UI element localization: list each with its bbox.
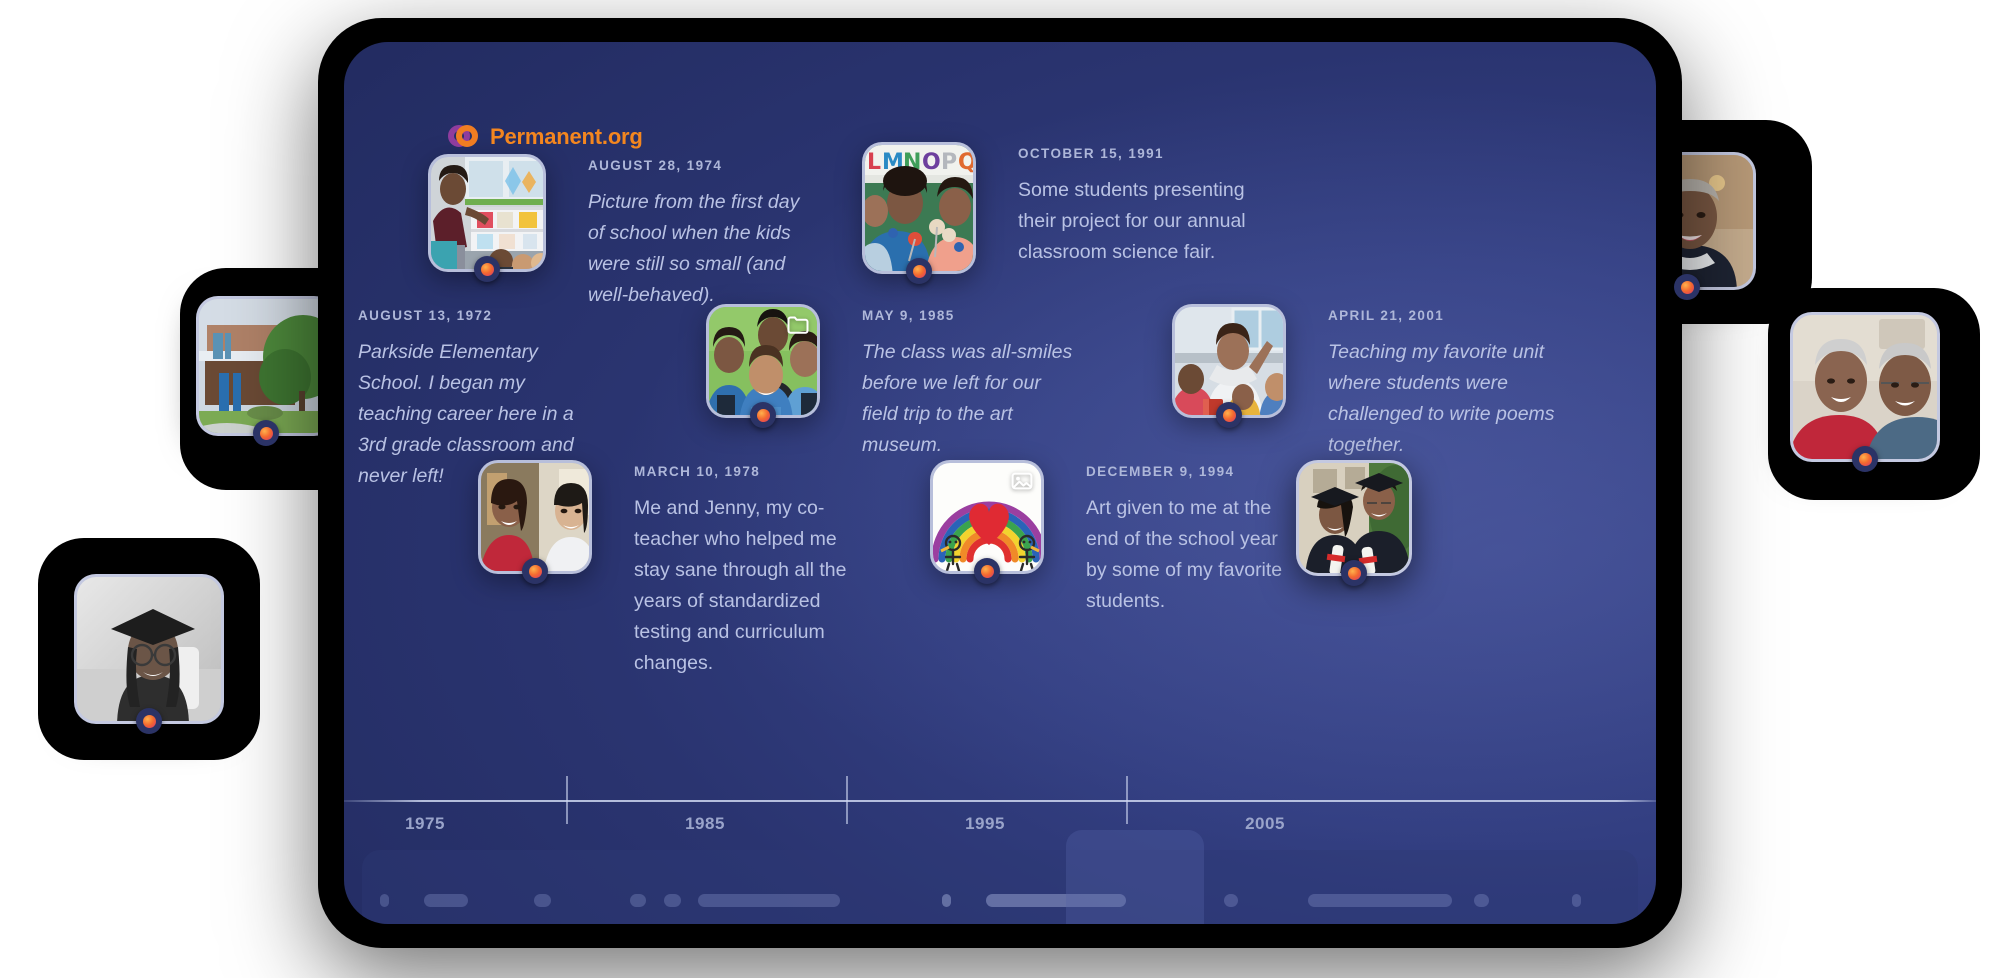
pin-badge[interactable] bbox=[136, 708, 162, 734]
entry-date: DECEMBER 9, 1994 bbox=[1086, 464, 1302, 479]
pin-badge[interactable] bbox=[1852, 446, 1878, 472]
permanent-rings-logo-icon bbox=[448, 122, 478, 152]
timeline-entry-6[interactable]: DECEMBER 9, 1994 Art given to me at the … bbox=[930, 460, 1302, 617]
entry-description: Some students presenting their project f… bbox=[1018, 175, 1258, 268]
axis-tick bbox=[1126, 776, 1128, 824]
timeline-entry-4[interactable]: APRIL 21, 2001 Teaching my favorite unit… bbox=[1172, 304, 1584, 461]
strip-pill bbox=[1308, 894, 1452, 907]
entry-description: Picture from the first day of school whe… bbox=[588, 187, 818, 311]
brand-name: Permanent.org bbox=[490, 124, 643, 150]
entry-thumbnail[interactable]: L M N O P Q bbox=[862, 142, 976, 274]
entry-date: AUGUST 28, 1974 bbox=[588, 158, 818, 173]
entry-date: APRIL 21, 2001 bbox=[1328, 308, 1584, 323]
strip-pill bbox=[664, 894, 681, 907]
pin-dot-icon bbox=[981, 565, 994, 578]
pin-dot-icon bbox=[1223, 409, 1236, 422]
photo-elderly-couple-portrait bbox=[1793, 315, 1937, 459]
timeline-axis[interactable] bbox=[344, 800, 1656, 802]
folder-icon bbox=[787, 315, 809, 335]
photo-two-teachers-portrait bbox=[481, 463, 589, 571]
entry-thumbnail[interactable] bbox=[930, 460, 1044, 574]
svg-text:O: O bbox=[922, 150, 941, 175]
pin-badge[interactable] bbox=[1674, 274, 1700, 300]
entry-date: MAY 9, 1985 bbox=[862, 308, 1074, 323]
strip-pill bbox=[534, 894, 551, 907]
entry-date: OCTOBER 15, 1991 bbox=[1018, 146, 1258, 161]
tablet-device: Permanent.org bbox=[318, 18, 1682, 948]
svg-text:P: P bbox=[941, 150, 957, 175]
entry-thumbnail[interactable] bbox=[428, 154, 546, 272]
entry-date: MARCH 10, 1978 bbox=[634, 464, 864, 479]
pin-badge[interactable] bbox=[253, 420, 279, 446]
svg-text:L: L bbox=[867, 150, 881, 175]
timeline-entry-1[interactable]: L M N O P Q bbox=[862, 142, 1258, 274]
pin-badge[interactable] bbox=[906, 258, 932, 284]
timeline-entry-5[interactable]: MARCH 10, 1978 Me and Jenny, my co-teach… bbox=[478, 460, 864, 679]
timeline-overview-strip[interactable] bbox=[362, 850, 1638, 924]
axis-year-1975: 1975 bbox=[405, 814, 445, 834]
entry-thumbnail[interactable] bbox=[1172, 304, 1286, 418]
photo-graduation-couple bbox=[1299, 463, 1409, 573]
pin-dot-icon bbox=[1348, 567, 1361, 580]
timeline-strip-highlight[interactable] bbox=[1066, 830, 1204, 924]
strip-pill bbox=[424, 894, 468, 907]
pin-badge[interactable] bbox=[474, 256, 500, 282]
axis-year-2005: 2005 bbox=[1245, 814, 1285, 834]
entry-description: Me and Jenny, my co-teacher who helped m… bbox=[634, 493, 864, 679]
strip-pill bbox=[698, 894, 840, 907]
app-logo[interactable]: Permanent.org bbox=[448, 122, 643, 152]
photo-school-building-exterior bbox=[199, 299, 333, 433]
floating-photo-elderly-couple[interactable] bbox=[1790, 312, 1940, 462]
entry-thumbnail[interactable] bbox=[706, 304, 820, 418]
floating-photo-graduate[interactable] bbox=[74, 574, 224, 724]
photo-students-science-fair-solar-system: L M N O P Q bbox=[865, 145, 973, 271]
strip-pill bbox=[1474, 894, 1489, 907]
strip-pill bbox=[1572, 894, 1581, 907]
strip-pill bbox=[630, 894, 646, 907]
pin-badge[interactable] bbox=[750, 402, 776, 428]
strip-pill bbox=[380, 894, 389, 907]
pin-dot-icon bbox=[481, 263, 494, 276]
timeline-entry-0[interactable]: AUGUST 28, 1974 Picture from the first d… bbox=[428, 154, 818, 311]
pin-dot-icon bbox=[143, 715, 156, 728]
pin-dot-icon bbox=[913, 265, 926, 278]
svg-text:Q: Q bbox=[958, 150, 973, 175]
pin-dot-icon bbox=[757, 409, 770, 422]
photo-teacher-with-students-raising-hands bbox=[1175, 307, 1283, 415]
photo-graduate-woman-cap-and-gown-bw bbox=[77, 577, 221, 721]
pin-dot-icon bbox=[1681, 281, 1694, 294]
floating-photo-graduation-couple[interactable] bbox=[1296, 460, 1412, 576]
entry-thumbnail[interactable] bbox=[478, 460, 592, 574]
entry-description: The class was all-smiles before we left … bbox=[862, 337, 1074, 461]
pin-badge[interactable] bbox=[522, 558, 548, 584]
pin-dot-icon bbox=[529, 565, 542, 578]
photo-teacher-reading-to-students-classroom bbox=[431, 157, 543, 269]
floating-photo-school-exterior[interactable] bbox=[196, 296, 336, 436]
timeline-entry-3[interactable]: MAY 9, 1985 The class was all-smiles bef… bbox=[706, 304, 1074, 461]
entry-description: Art given to me at the end of the school… bbox=[1086, 493, 1302, 617]
pin-badge[interactable] bbox=[1216, 402, 1242, 428]
tablet-screen: Permanent.org bbox=[344, 42, 1656, 924]
strip-pill bbox=[942, 894, 951, 907]
axis-tick bbox=[846, 776, 848, 824]
pin-dot-icon bbox=[1859, 453, 1872, 466]
pin-badge[interactable] bbox=[974, 558, 1000, 584]
axis-year-1995: 1995 bbox=[965, 814, 1005, 834]
entry-description: Teaching my favorite unit where students… bbox=[1328, 337, 1584, 461]
image-icon bbox=[1011, 471, 1033, 491]
strip-pill bbox=[1224, 894, 1238, 907]
axis-year-1985: 1985 bbox=[685, 814, 725, 834]
entry-date: AUGUST 13, 1972 bbox=[358, 308, 584, 323]
pin-dot-icon bbox=[260, 427, 273, 440]
pin-badge[interactable] bbox=[1341, 560, 1367, 586]
axis-tick bbox=[566, 776, 568, 824]
